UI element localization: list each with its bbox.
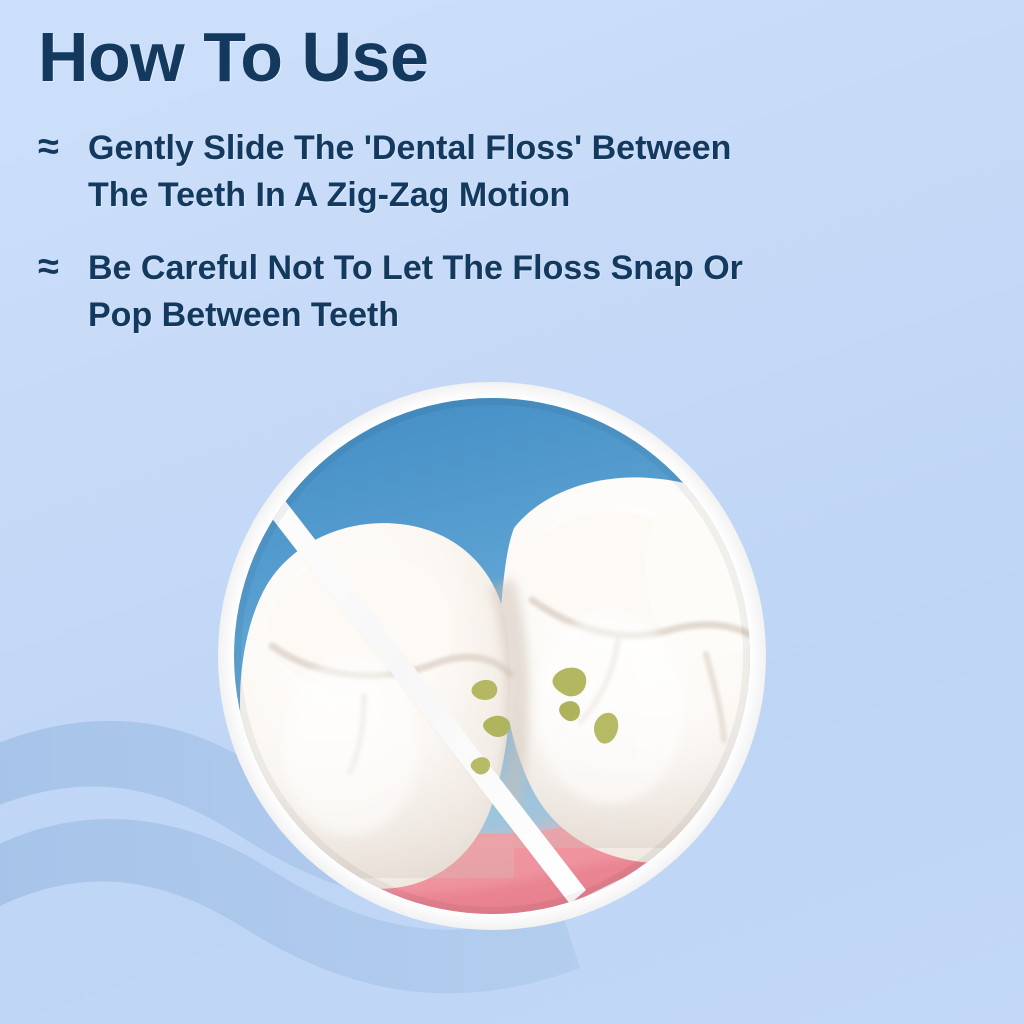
instruction-list: ≈ Gently Slide The 'Dental Floss' Betwee…	[34, 125, 934, 365]
how-to-use-infographic: How To Use ≈ Gently Slide The 'Dental Fl…	[0, 0, 1024, 1024]
instruction-text-1: Gently Slide The 'Dental Floss' Between …	[88, 125, 934, 219]
molar-left-highlight	[282, 656, 418, 836]
molar-left	[240, 523, 529, 889]
instruction-line: The Teeth In A Zig-Zag Motion	[88, 172, 934, 219]
instruction-item-2: ≈ Be Careful Not To Let The Floss Snap O…	[34, 245, 934, 339]
approx-equal-icon: ≈	[34, 245, 88, 289]
instruction-line: Be Careful Not To Let The Floss Snap Or	[88, 245, 934, 292]
molar-right-highlight	[536, 612, 684, 804]
instruction-item-1: ≈ Gently Slide The 'Dental Floss' Betwee…	[34, 125, 934, 219]
illustration-circle	[214, 378, 770, 934]
approx-equal-icon: ≈	[34, 125, 88, 169]
instruction-line: Pop Between Teeth	[88, 292, 934, 339]
page-title: How To Use	[38, 22, 428, 92]
instruction-text-2: Be Careful Not To Let The Floss Snap Or …	[88, 245, 934, 339]
instruction-line: Gently Slide The 'Dental Floss' Between	[88, 125, 934, 172]
